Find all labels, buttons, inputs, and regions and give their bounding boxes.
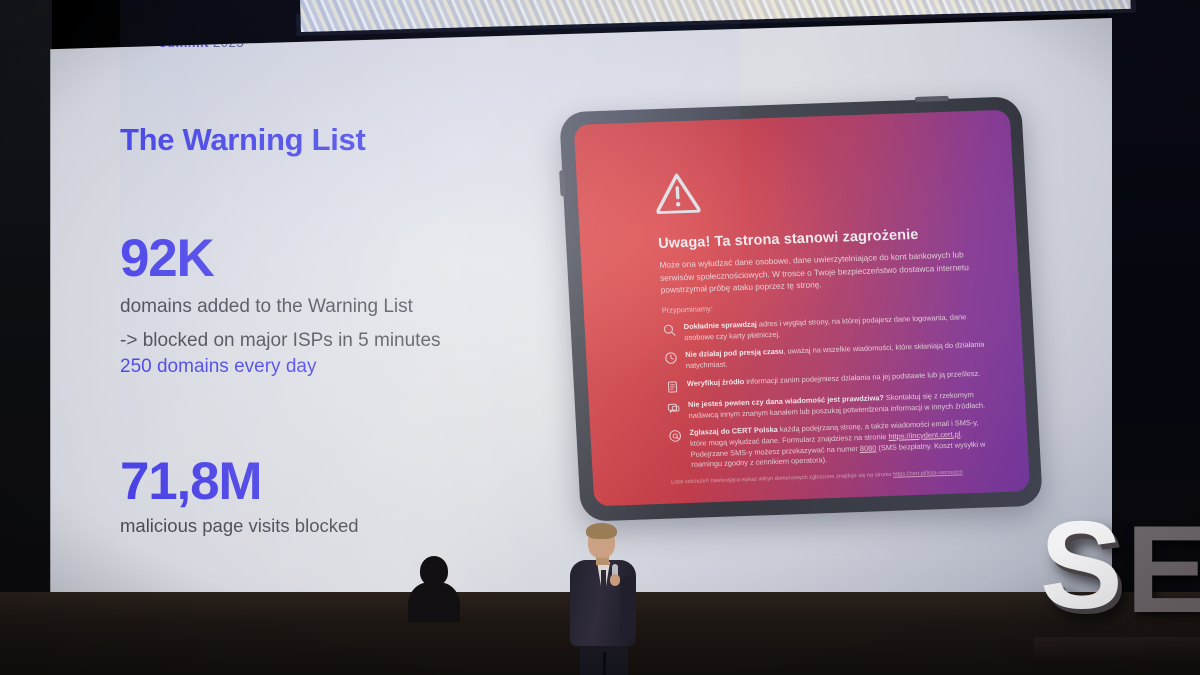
- summit-logo-mark-icon: [116, 13, 150, 45]
- warning-paragraph: Może ona wyłudzać dane osobowe, dane uwi…: [659, 248, 985, 297]
- advice-item-check-address: Dokładnie sprawdzaj adres i wygląd stron…: [663, 311, 988, 344]
- warning-heading: Uwaga! Ta strona stanowi zagrożenie: [658, 225, 983, 252]
- logo-line-international: international: [159, 22, 244, 36]
- speaker-person: [558, 524, 650, 675]
- warning-advice-list: Dokładnie sprawdzaj adres i wygląd stron…: [663, 311, 995, 471]
- stat-line-blocked-isps: -> blocked on major ISPs in 5 minutes: [120, 328, 550, 353]
- advice-text: Nie jesteś pewien czy dana wiadomość jes…: [688, 389, 992, 421]
- warning-footer-note: Lista ostrzeżeń zawierająca wykaz witryn…: [671, 468, 995, 487]
- stat-value-92k: 92K: [120, 232, 550, 285]
- cert-report-link[interactable]: https://incydent.cert.pl: [888, 429, 960, 440]
- logo-line-secure: secure: [159, 8, 244, 22]
- tablet-volume-button: [559, 170, 565, 196]
- summit-logo-text: secure international summit 2025: [159, 8, 244, 49]
- slide-content: The Warning List 92K domains added to th…: [120, 122, 550, 538]
- stage-letter-s: S: [1040, 513, 1123, 620]
- advice-text: Dokładnie sprawdzaj adres i wygląd stron…: [684, 311, 988, 343]
- stat-block-visits: 71,8M malicious page visits blocked: [120, 455, 550, 539]
- at-sign-icon: [668, 429, 682, 442]
- tablet-screen-warning-page: Uwaga! Ta strona stanowi zagrożenie Może…: [574, 110, 1030, 507]
- warning-triangle-icon: [654, 173, 700, 214]
- stat-value-718m: 71,8M: [120, 455, 550, 508]
- stage-letter-e: E: [1126, 517, 1200, 624]
- secure-international-summit-logo: secure international summit 2025: [116, 8, 244, 49]
- warning-reminder-label: Przypominamy:: [662, 294, 986, 314]
- advice-item-confirm-message: Nie jesteś pewien czy dana wiadomość jes…: [667, 389, 992, 422]
- stat-line-visits-blocked: malicious page visits blocked: [120, 514, 550, 539]
- stat-block-domains: 92K domains added to the Warning List ->…: [120, 232, 550, 379]
- tablet-device-mockup: Uwaga! Ta strona stanowi zagrożenie Może…: [559, 96, 1043, 522]
- conference-stage-scene: secure international summit 2025 The War…: [0, 0, 1200, 675]
- advice-text: Weryfikuj źródło informacji zanim podejm…: [687, 369, 981, 390]
- audience-silhouette: [408, 556, 460, 620]
- logo-line-summit: summit 2025: [159, 36, 244, 50]
- clock-icon: [664, 352, 678, 365]
- stat-line-domains-added: domains added to the Warning List: [120, 294, 550, 319]
- slide-title: The Warning List: [120, 122, 550, 158]
- sms-number-link[interactable]: 8080: [860, 443, 877, 453]
- advice-item-no-time-pressure: Nie działaj pod presją czasu, uważaj na …: [664, 340, 989, 373]
- advice-item-verify-source: Weryfikuj źródło informacji zanim podejm…: [666, 368, 991, 393]
- magnifier-icon: [663, 323, 677, 336]
- tablet-power-button: [915, 96, 949, 102]
- chat-icon: [667, 401, 681, 414]
- stage-letters-se: S E: [1034, 505, 1200, 655]
- advice-text: Nie działaj pod presją czasu, uważaj na …: [685, 340, 989, 372]
- document-icon: [666, 380, 680, 393]
- warning-list-link[interactable]: https://cert.pl/lista-ostrzezen: [893, 470, 963, 478]
- stat-line-250-per-day: 250 domains every day: [120, 354, 550, 379]
- logo-year: 2025: [213, 35, 244, 50]
- advice-item-report-cert: Zgłaszaj do CERT Polska każdą podejrzaną…: [668, 418, 994, 472]
- advice-text: Zgłaszaj do CERT Polska każdą podejrzaną…: [689, 418, 994, 471]
- auditorium-wall-left: [0, 0, 52, 675]
